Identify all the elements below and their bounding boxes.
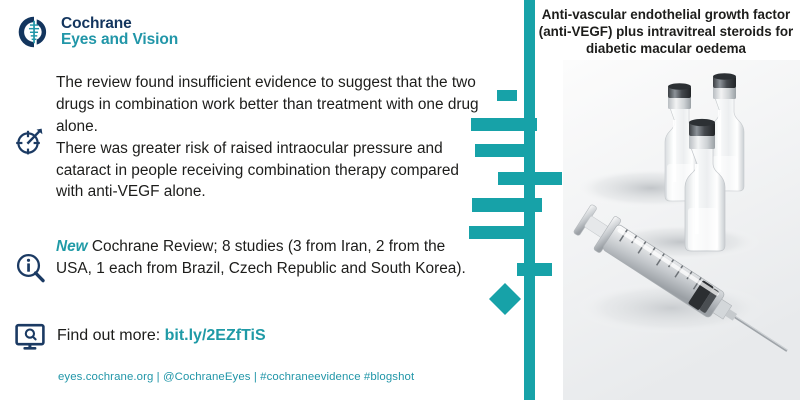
findings-paragraph-1: The review found insufficient evidence t… — [56, 72, 488, 138]
review-detail-text: Cochrane Review; 8 studies (3 from Iran,… — [56, 238, 466, 277]
findings-row: The review found insufficient evidence t… — [14, 72, 494, 203]
left-content-column: Cochrane Eyes and Vision The review foun… — [0, 0, 520, 400]
article-title: Anti-vascular endothelial growth factor … — [538, 7, 794, 58]
findings-text: The review found insufficient evidence t… — [56, 72, 488, 203]
cochrane-logo: Cochrane Eyes and Vision — [16, 14, 178, 50]
footer-handles: eyes.cochrane.org | @CochraneEyes | #coc… — [58, 371, 414, 383]
review-info-text: New Cochrane Review; 8 studies (3 from I… — [56, 236, 476, 280]
forest-plot-bar — [497, 90, 517, 101]
logo-name-line2: Eyes and Vision — [61, 32, 178, 48]
find-out-more-row[interactable]: Find out more: bit.ly/2EZfTiS — [14, 320, 454, 352]
logo-wordmark: Cochrane Eyes and Vision — [61, 16, 178, 49]
forest-plot-diamond — [489, 283, 521, 315]
cochrane-logo-icon — [16, 14, 52, 50]
syringe-and-vials-photo — [563, 60, 800, 400]
blogshot-url-link[interactable]: bit.ly/2EZfTiS — [165, 327, 266, 344]
logo-name-line1: Cochrane — [61, 16, 178, 32]
new-badge: New — [56, 238, 88, 255]
find-out-more-text: Find out more: bit.ly/2EZfTiS — [57, 325, 266, 348]
blogshot-canvas: Cochrane Eyes and Vision The review foun… — [0, 0, 800, 400]
target-arrow-icon — [14, 124, 46, 156]
find-out-more-label: Find out more: — [57, 327, 165, 344]
forest-plot-bar — [469, 226, 527, 239]
info-magnifier-icon — [14, 252, 46, 284]
article-title-bar: Anti-vascular endothelial growth factor … — [520, 0, 800, 64]
review-info-row: New Cochrane Review; 8 studies (3 from I… — [14, 236, 484, 284]
findings-paragraph-2: There was greater risk of raised intraoc… — [56, 138, 488, 204]
article-panel: Anti-vascular endothelial growth factor … — [520, 0, 800, 400]
monitor-search-icon — [14, 320, 46, 352]
